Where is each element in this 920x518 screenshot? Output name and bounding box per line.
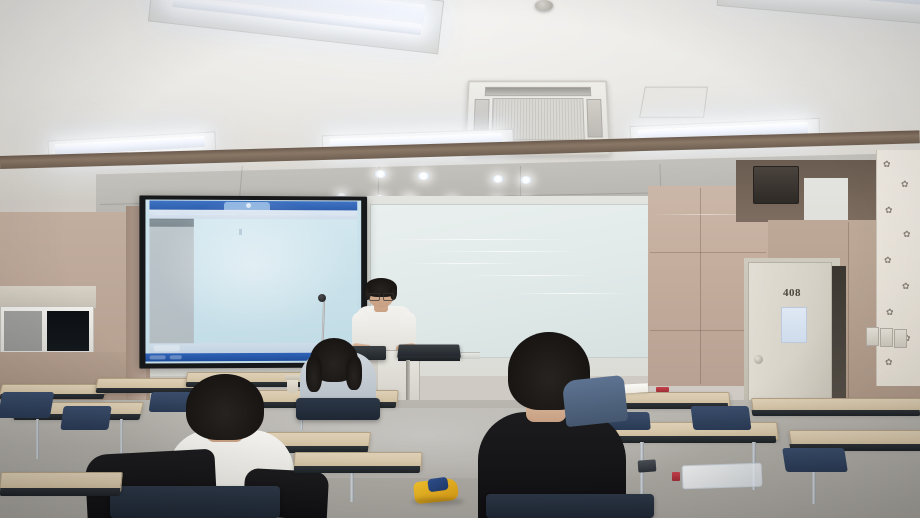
- ac-louver-right: [586, 99, 603, 138]
- jacket-on-chair-blue: [562, 375, 628, 427]
- whiteboard-streak: [385, 239, 565, 240]
- whiteboard-streak: [511, 293, 629, 294]
- classroom-photo: ✿ ✿ ✿ ✿ ✿ ✿ ✿ ✿ ✿ 408: [0, 0, 920, 518]
- door-number: 408: [783, 287, 801, 299]
- classroom-chair: [782, 448, 848, 472]
- plastic-bag: [682, 463, 763, 490]
- recessed-downlight: [492, 175, 504, 183]
- classroom-chair: [110, 486, 280, 518]
- door-gap: [832, 266, 846, 416]
- window-glass: [47, 311, 89, 351]
- desk-edge: [752, 410, 920, 416]
- presenter-glasses-lens: [383, 293, 394, 301]
- classroom-chair: [296, 398, 380, 420]
- red-item: [672, 472, 680, 481]
- classroom-chair: [691, 406, 752, 430]
- student-gray-top-hair-strand: [306, 356, 322, 392]
- decorative-column: ✿ ✿ ✿ ✿ ✿ ✿ ✿ ✿ ✿: [876, 150, 920, 386]
- desk-edge: [294, 466, 420, 473]
- door-notice: [781, 307, 807, 343]
- panel-seam: [848, 222, 849, 422]
- window-glass: [4, 311, 42, 351]
- recessed-downlight: [417, 172, 430, 180]
- yellow-blue-bag-shadow: [412, 498, 464, 505]
- desk-edge: [0, 488, 120, 496]
- panel-seam: [700, 188, 701, 384]
- smoke-detector-icon: [535, 0, 553, 11]
- light-switch-panel[interactable]: [880, 328, 893, 347]
- red-item: [656, 387, 669, 392]
- panel-seam: [650, 252, 766, 253]
- yellow-blue-bag-strap: [427, 477, 449, 493]
- classroom-chair: [486, 494, 654, 518]
- light-switch-panel[interactable]: [894, 329, 907, 348]
- whiteboard-streak: [409, 263, 519, 264]
- whiteboard-streak: [467, 275, 597, 276]
- ceiling-access-panel: [639, 87, 708, 118]
- classroom-chair: [60, 406, 111, 430]
- desk-leg: [120, 419, 123, 457]
- ac-top-vent: [485, 87, 591, 96]
- coffee-cup-lid: [285, 375, 300, 380]
- student-white-shirt-hair: [186, 374, 264, 440]
- recessed-downlight: [520, 176, 532, 184]
- student-gray-top-hair-strand: [346, 356, 362, 390]
- recessed-downlight: [374, 170, 387, 178]
- desk-leg: [36, 419, 39, 459]
- whiteboard-streak: [431, 251, 581, 252]
- door-knob[interactable]: [754, 355, 763, 364]
- phone: [638, 459, 657, 472]
- classroom-chair: [0, 392, 54, 418]
- side-window: [0, 306, 94, 356]
- presenter-glasses-lens: [369, 293, 380, 301]
- coffee-cup: [287, 378, 298, 393]
- light-switch-panel[interactable]: [866, 327, 879, 346]
- microphone-head: [318, 294, 326, 302]
- wall-speaker: [753, 166, 799, 204]
